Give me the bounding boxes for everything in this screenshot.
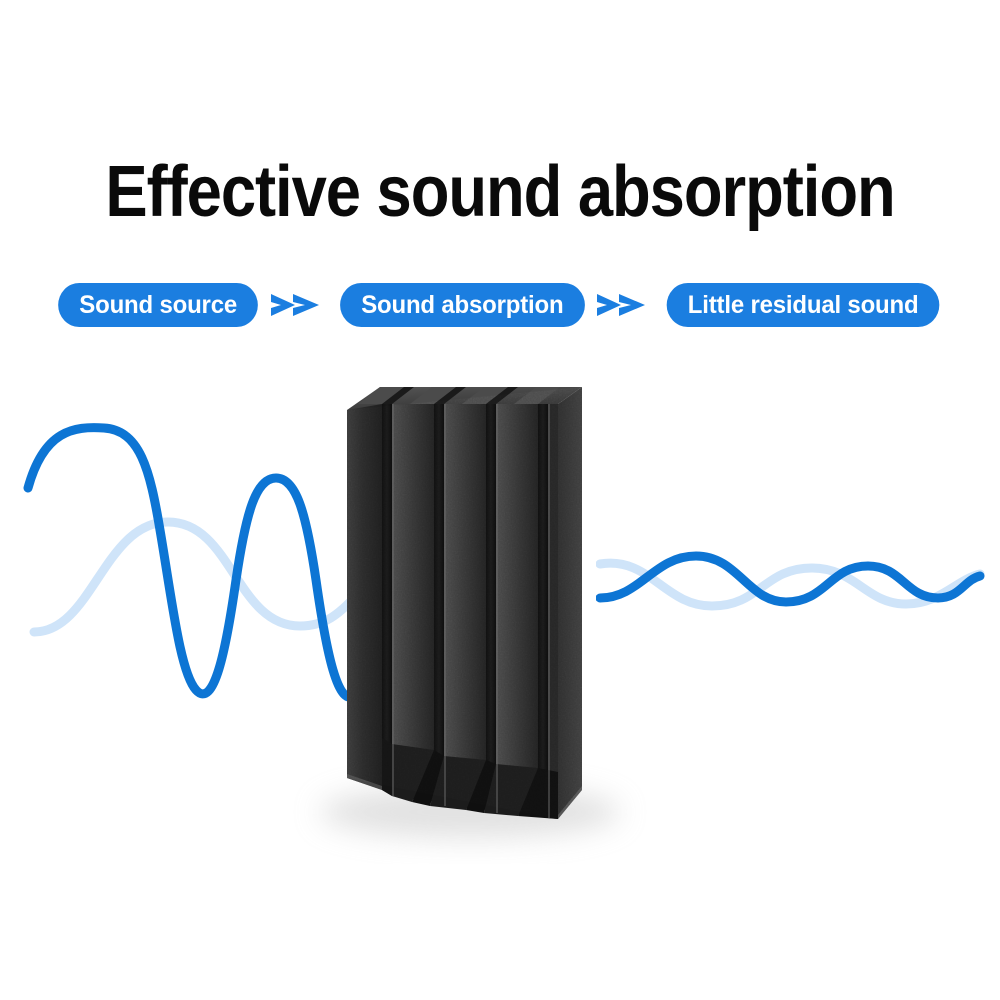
flow-separator-1	[263, 283, 335, 327]
acoustic-illustration	[0, 0, 1000, 1000]
double-chevron-right-icon	[269, 290, 329, 320]
absorption-flow-steps: Sound source Sound absorption Little res…	[0, 281, 1000, 329]
foam-texture	[347, 387, 582, 819]
double-chevron-right-icon	[595, 290, 655, 320]
acoustic-foam-product	[320, 387, 620, 838]
page-title: Effective sound absorption	[60, 152, 940, 232]
flow-badge-little-residual-sound[interactable]: Little residual sound	[667, 283, 940, 327]
flow-badge-sound-source[interactable]: Sound source	[59, 283, 259, 327]
flow-separator-2	[589, 283, 661, 327]
product-infographic: Effective sound absorption Sound source …	[0, 0, 1000, 1000]
flow-badge-sound-absorption[interactable]: Sound absorption	[340, 283, 584, 327]
